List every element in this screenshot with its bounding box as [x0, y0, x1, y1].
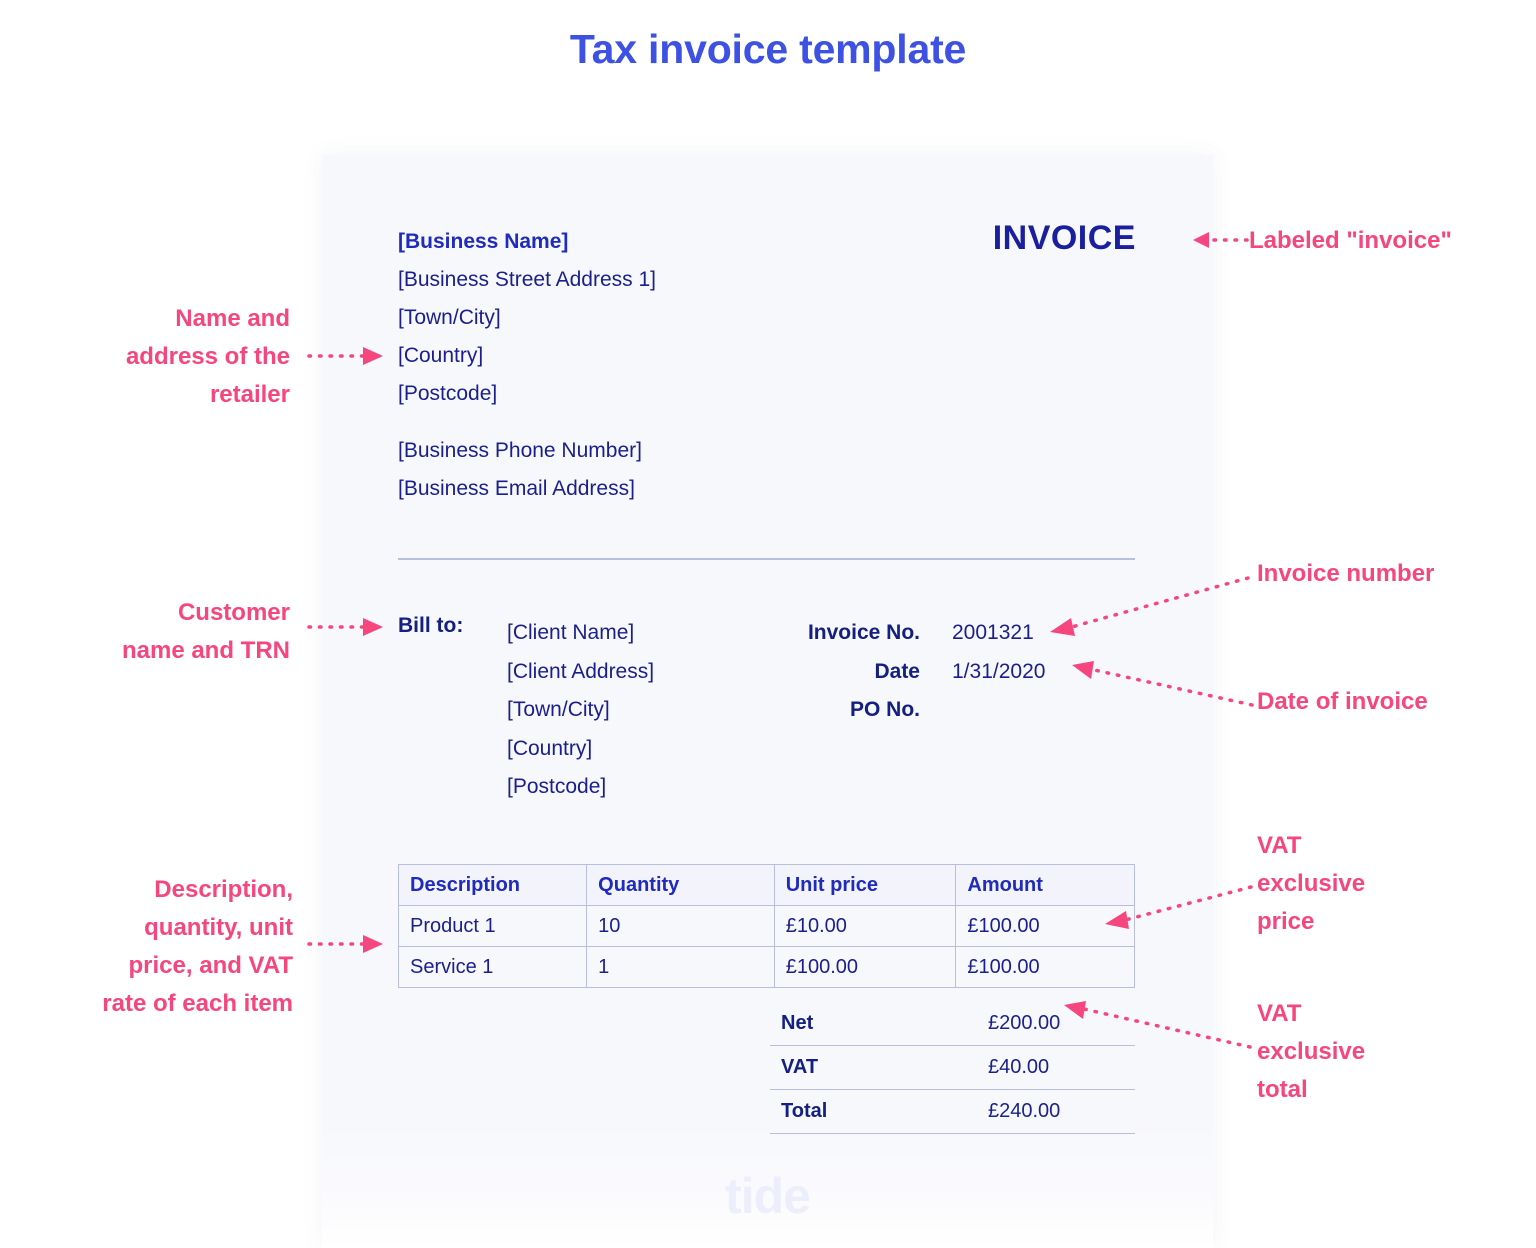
bill-to-label: Bill to: [398, 614, 463, 638]
annotation-name-address-retailer: Name and address of the retailer [60, 300, 290, 414]
invoice-heading: INVOICE [993, 219, 1136, 258]
annotation-labeled-invoice: Labeled "invoice" [1249, 222, 1519, 260]
arrow-description-icon [305, 932, 395, 960]
header-description: Description [399, 865, 587, 906]
cell-unit-price: £100.00 [774, 947, 956, 988]
annotation-vat-exclusive-price: VAT exclusive price [1257, 827, 1507, 941]
cell-quantity: 1 [587, 947, 775, 988]
cell-amount: £100.00 [956, 947, 1135, 988]
table-header-row: Description Quantity Unit price Amount [399, 865, 1135, 906]
business-phone: [Business Phone Number] [398, 432, 656, 470]
cell-quantity: 10 [587, 906, 775, 947]
section-divider [398, 558, 1135, 560]
cell-unit-price: £10.00 [774, 906, 956, 947]
vat-label: VAT [770, 1046, 977, 1090]
cell-description: Service 1 [399, 947, 587, 988]
business-name: [Business Name] [398, 223, 656, 261]
total-label: Total [770, 1090, 977, 1134]
page-title: Tax invoice template [0, 26, 1536, 73]
spacer [398, 413, 656, 432]
total-value: £240.00 [977, 1090, 1135, 1134]
arrow-name-address-icon [305, 344, 395, 372]
arrow-vat-total-icon [1052, 995, 1257, 1055]
arrow-invoice-number-icon [1040, 570, 1255, 640]
client-postcode: [Postcode] [507, 768, 654, 807]
client-town: [Town/City] [507, 691, 654, 730]
annotation-customer-name-trn: Customer name and TRN [60, 594, 290, 670]
invoice-no-value: 2001321 [952, 614, 1045, 653]
annotation-date-of-invoice: Date of invoice [1257, 683, 1527, 721]
arrow-customer-trn-icon [305, 615, 395, 643]
client-name: [Client Name] [507, 614, 654, 653]
net-label: Net [770, 1002, 977, 1046]
invoice-meta-values: 2001321 1/31/2020 [952, 614, 1045, 730]
po-no-value [952, 691, 1045, 730]
annotation-description-quantity-vat: Description, quantity, unit price, and V… [20, 871, 293, 1023]
invoice-meta-labels: Invoice No. Date PO No. [720, 614, 920, 730]
arrow-vat-price-icon [1093, 880, 1258, 935]
tide-watermark: tide [322, 1167, 1213, 1225]
annotation-invoice-number: Invoice number [1257, 555, 1527, 593]
date-value: 1/31/2020 [952, 653, 1045, 692]
totals-row-total: Total £240.00 [770, 1090, 1135, 1134]
business-address-block: [Business Name] [Business Street Address… [398, 223, 656, 508]
table-row: Product 1 10 £10.00 £100.00 [399, 906, 1135, 947]
business-street: [Business Street Address 1] [398, 261, 656, 299]
header-unit-price: Unit price [774, 865, 956, 906]
client-country: [Country] [507, 730, 654, 769]
header-quantity: Quantity [587, 865, 775, 906]
invoice-no-label: Invoice No. [720, 614, 920, 653]
arrow-date-invoice-icon [1062, 655, 1257, 715]
cell-description: Product 1 [399, 906, 587, 947]
business-country: [Country] [398, 337, 656, 375]
arrow-labeled-invoice-icon [1175, 228, 1255, 256]
business-email: [Business Email Address] [398, 470, 656, 508]
client-address: [Client Address] [507, 653, 654, 692]
line-items-table: Description Quantity Unit price Amount P… [398, 864, 1135, 988]
date-label: Date [720, 653, 920, 692]
table-row: Service 1 1 £100.00 £100.00 [399, 947, 1135, 988]
business-postcode: [Postcode] [398, 375, 656, 413]
business-town: [Town/City] [398, 299, 656, 337]
annotation-vat-exclusive-total: VAT exclusive total [1257, 995, 1507, 1109]
po-no-label: PO No. [720, 691, 920, 730]
client-address-block: [Client Name] [Client Address] [Town/Cit… [507, 614, 654, 807]
